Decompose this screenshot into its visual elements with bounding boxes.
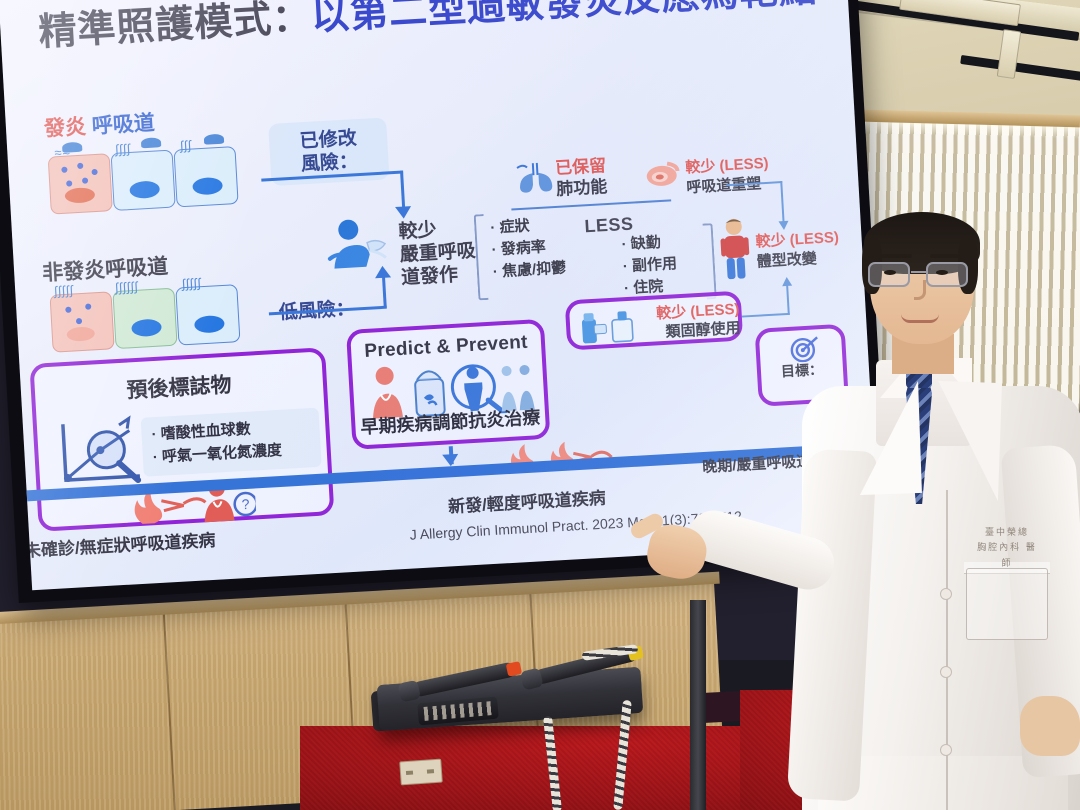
epithelial-cell: ʃʃʃ <box>173 146 238 207</box>
slide-content: 精準照護模式：以第二型過敏發炎反應為靶點 發炎 呼吸道 ≈≈ <box>0 0 877 590</box>
flow-line-top-v <box>400 171 405 209</box>
lung-underline <box>511 199 671 210</box>
ceiling-rail <box>960 55 1080 86</box>
connector-steroid-h <box>742 313 790 318</box>
connector-steroid-v <box>786 285 790 315</box>
presenter-person: 臺中榮總 胸腔內科 醫師 <box>806 196 1080 810</box>
lungs-icon <box>515 158 557 199</box>
coughing-person-icon <box>322 215 391 275</box>
presentation-screen-bezel: 精準照護模式：以第二型過敏發炎反應為靶點 發炎 呼吸道 ≈≈ <box>0 0 890 603</box>
airway-remodeling-icon <box>645 159 683 196</box>
child-figure-icon <box>718 217 751 281</box>
coat-button <box>940 588 952 600</box>
screenshot-root: 精準照護模式：以第二型過敏發炎反應為靶點 發炎 呼吸道 ≈≈ <box>0 0 1080 810</box>
embroidery-line-1: 臺中榮總 <box>972 526 1042 541</box>
coat-lapel-left <box>856 381 922 495</box>
fewer-attacks-line2: 嚴重呼吸 <box>399 240 476 267</box>
pathogen-icon <box>141 137 162 148</box>
inflamed-cell-row: ≈≈ ʃʃʃʃ ʃʃʃ <box>48 146 239 215</box>
prognostic-markers-box[interactable]: 預後標誌物 嗜酸性血球數 <box>29 347 334 532</box>
prognostic-title: 預後標誌物 <box>34 363 323 409</box>
bullet-list-right: 缺勤 副作用 住院 <box>621 231 679 299</box>
label-noninflamed-airway: 非發炎呼吸道 <box>41 250 168 287</box>
epithelial-cell-inflamed: ≈≈ <box>48 153 113 214</box>
bullet-item: 焦慮/抑鬱 <box>492 257 566 283</box>
eye-right <box>936 270 948 275</box>
prognostic-items-panel: 嗜酸性血球數 呼氣一氧化氮濃度 <box>141 408 322 477</box>
mouth <box>901 314 939 323</box>
coat-button <box>940 666 952 678</box>
svg-text:?: ? <box>241 496 250 512</box>
flow-arrow-down <box>395 206 412 219</box>
embroidery-line-2: 胸腔內科 醫師 <box>972 541 1042 572</box>
presentation-screen[interactable]: 精準照護模式：以第二型過敏發炎反應為靶點 發炎 呼吸道 ≈≈ <box>0 0 879 590</box>
noninflamed-cell-row: ʃʃʃʃʃ ʃʃʃʃʃʃ ʃʃʃʃʃ <box>49 284 240 353</box>
stage-label-undiagnosed: 未確診/無症狀呼吸道疾病 <box>23 526 216 562</box>
bullet-item: 缺勤 <box>621 231 676 256</box>
wall-power-outlet[interactable] <box>399 759 443 786</box>
epithelial-cell-healthy: ʃʃʃʃʃʃ <box>112 288 177 349</box>
lung-function-word: 肺功能 <box>556 176 608 200</box>
less-steroid-box[interactable]: 較少 (LESS) 類固醇使用 <box>565 291 744 351</box>
coat-lapel-right <box>934 381 1002 501</box>
connector-remodeling-v <box>780 181 784 225</box>
epithelial-cell-healthy: ʃʃʃʃʃ <box>175 284 240 345</box>
preserved-lung-function-label: 已保留 肺功能 <box>555 155 608 200</box>
bullet-item: 副作用 <box>622 253 677 278</box>
pathogen-icon <box>62 142 83 153</box>
epithelial-cell: ʃʃʃʃ <box>111 150 176 211</box>
eye-left <box>884 270 896 275</box>
bracket-right-bullets <box>703 223 717 299</box>
bracket-left-bullets <box>474 214 489 300</box>
label-inflamed-airway: 發炎 呼吸道 <box>43 107 155 143</box>
stage-label-new-mild: 新發/輕度呼吸道疾病 <box>447 484 606 518</box>
less-airway-remodeling-label: 較少 (LESS) 呼吸道重塑 <box>685 154 770 198</box>
av-stand-pole <box>690 600 706 810</box>
pathogen-icon <box>204 134 225 145</box>
glasses-lens-right <box>926 262 968 287</box>
flow-line-bottom-v <box>382 276 387 308</box>
slide-title-main: 精準照護模式： <box>37 0 312 54</box>
less-steroid-label: 較少 (LESS) 類固醇使用 <box>641 300 741 344</box>
bullet-list-left: 症狀 發病率 焦慮/抑鬱 <box>490 214 567 283</box>
predict-prevent-box[interactable]: Predict & Prevent <box>346 319 550 450</box>
coat-embroidery: 臺中榮總 胸腔內科 醫師 <box>972 526 1042 560</box>
eyebrow-right <box>930 254 964 258</box>
fewer-severe-attacks-label: 較少 嚴重呼吸 道發作 <box>398 217 478 291</box>
preserved-word: 已保留 <box>555 155 607 179</box>
nose <box>914 280 926 300</box>
fewer-attacks-line3: 道發作 <box>400 263 477 290</box>
glasses-bridge <box>911 271 927 273</box>
coat-chest-pocket <box>966 568 1048 640</box>
coat-center-seam <box>946 490 948 810</box>
label-inflamed-red: 發炎 <box>43 115 86 140</box>
label-inflamed-blue: 呼吸道 <box>85 112 155 139</box>
presenter-hand-in-pocket <box>1020 696 1080 756</box>
connector-arrow-down <box>779 221 789 231</box>
epithelial-cell-mild: ʃʃʃʃʃ <box>49 291 114 352</box>
inhaler-and-bottle-icon <box>577 308 639 350</box>
connector-arrow-up <box>782 277 792 287</box>
slide-title-accent: 以第二型過敏發炎反應為靶點 <box>310 0 819 38</box>
coat-button <box>940 744 952 756</box>
eyebrow-left <box>878 254 912 258</box>
slide-title: 精準照護模式：以第二型過敏發炎反應為靶點 <box>37 0 828 56</box>
